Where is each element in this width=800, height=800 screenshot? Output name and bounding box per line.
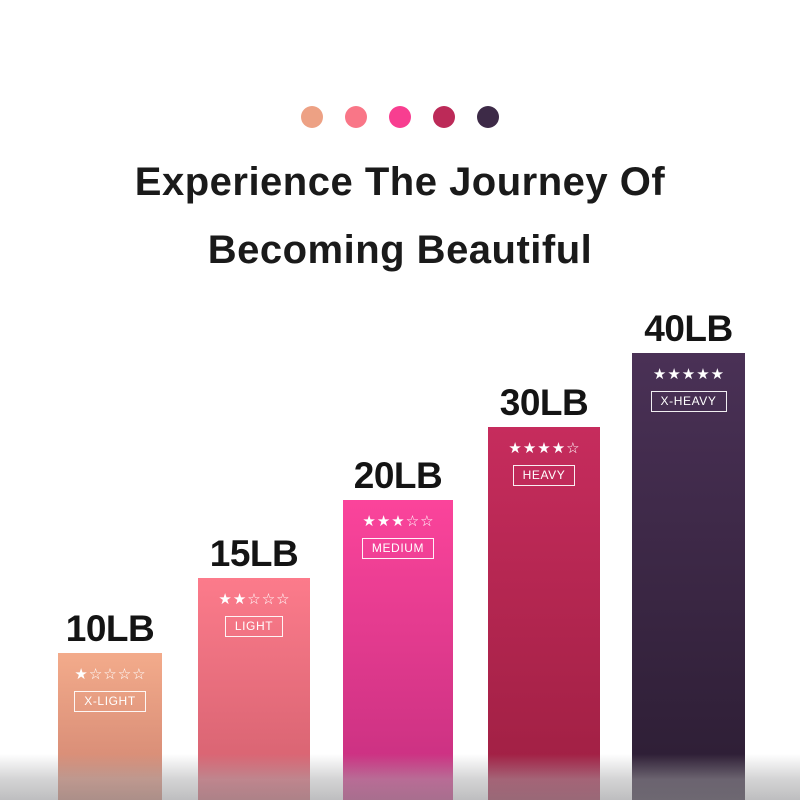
dot-medium: [389, 106, 411, 128]
star-filled-icon: ★: [552, 441, 565, 456]
bar-15lb-tier-badge: LIGHT: [225, 616, 283, 637]
headline-line-1: Experience The Journey Of: [0, 148, 800, 216]
star-filled-icon: ★: [667, 367, 680, 382]
dot-x-heavy: [477, 106, 499, 128]
star-empty-icon: ☆: [420, 514, 433, 529]
star-filled-icon: ★: [653, 367, 666, 382]
bar-15lb[interactable]: 15LB★★☆☆☆LIGHT: [198, 578, 310, 800]
star-filled-icon: ★: [362, 514, 375, 529]
bar-10lb-tier-badge: X-LIGHT: [74, 691, 146, 712]
bar-20lb-fill: ★★★☆☆MEDIUM: [343, 500, 453, 800]
bar-40lb-tier-badge: X-HEAVY: [651, 391, 727, 412]
star-filled-icon: ★: [74, 667, 87, 682]
bar-15lb-fill: ★★☆☆☆LIGHT: [198, 578, 310, 800]
bar-10lb-star-rating: ★☆☆☆☆: [74, 667, 145, 682]
bar-30lb-weight-label: 30LB: [500, 384, 588, 421]
infographic-stage: Experience The Journey Of Becoming Beaut…: [0, 0, 800, 800]
bar-40lb[interactable]: 40LB★★★★★X-HEAVY: [632, 353, 745, 800]
star-empty-icon: ☆: [276, 592, 289, 607]
star-empty-icon: ☆: [103, 667, 116, 682]
star-empty-icon: ☆: [89, 667, 102, 682]
bar-10lb-fill: ★☆☆☆☆X-LIGHT: [58, 653, 162, 800]
bar-10lb-weight-label: 10LB: [66, 610, 154, 647]
bar-20lb-star-rating: ★★★☆☆: [362, 514, 433, 529]
dot-light: [345, 106, 367, 128]
dot-x-light: [301, 106, 323, 128]
bar-15lb-badge-group: ★★☆☆☆LIGHT: [198, 578, 310, 637]
bar-30lb-fill: ★★★★☆HEAVY: [488, 427, 600, 800]
bar-30lb-tier-badge: HEAVY: [513, 465, 576, 486]
bar-40lb-weight-label: 40LB: [644, 310, 732, 347]
bar-20lb[interactable]: 20LB★★★☆☆MEDIUM: [343, 500, 453, 800]
color-swatch-row: [0, 106, 800, 128]
bar-20lb-badge-group: ★★★☆☆MEDIUM: [343, 500, 453, 559]
star-filled-icon: ★: [523, 441, 536, 456]
star-empty-icon: ☆: [247, 592, 260, 607]
bar-10lb[interactable]: 10LB★☆☆☆☆X-LIGHT: [58, 653, 162, 800]
headline-line-2: Becoming Beautiful: [0, 216, 800, 284]
bar-20lb-tier-badge: MEDIUM: [362, 538, 434, 559]
star-empty-icon: ☆: [262, 592, 275, 607]
star-filled-icon: ★: [377, 514, 390, 529]
star-empty-icon: ☆: [118, 667, 131, 682]
star-filled-icon: ★: [682, 367, 695, 382]
bar-40lb-star-rating: ★★★★★: [653, 367, 724, 382]
bar-30lb-star-rating: ★★★★☆: [508, 441, 579, 456]
star-empty-icon: ☆: [132, 667, 145, 682]
star-filled-icon: ★: [218, 592, 231, 607]
bar-15lb-weight-label: 15LB: [210, 535, 298, 572]
bar-10lb-badge-group: ★☆☆☆☆X-LIGHT: [58, 653, 162, 712]
dot-heavy: [433, 106, 455, 128]
star-filled-icon: ★: [537, 441, 550, 456]
star-filled-icon: ★: [696, 367, 709, 382]
star-empty-icon: ☆: [566, 441, 579, 456]
star-filled-icon: ★: [508, 441, 521, 456]
bar-40lb-fill: ★★★★★X-HEAVY: [632, 353, 745, 800]
bar-20lb-weight-label: 20LB: [354, 457, 442, 494]
star-filled-icon: ★: [711, 367, 724, 382]
page-title: Experience The Journey Of Becoming Beaut…: [0, 148, 800, 284]
star-empty-icon: ☆: [406, 514, 419, 529]
bar-15lb-star-rating: ★★☆☆☆: [218, 592, 289, 607]
bar-30lb-badge-group: ★★★★☆HEAVY: [488, 427, 600, 486]
bar-30lb[interactable]: 30LB★★★★☆HEAVY: [488, 427, 600, 800]
star-filled-icon: ★: [391, 514, 404, 529]
star-filled-icon: ★: [233, 592, 246, 607]
bar-40lb-badge-group: ★★★★★X-HEAVY: [632, 353, 745, 412]
